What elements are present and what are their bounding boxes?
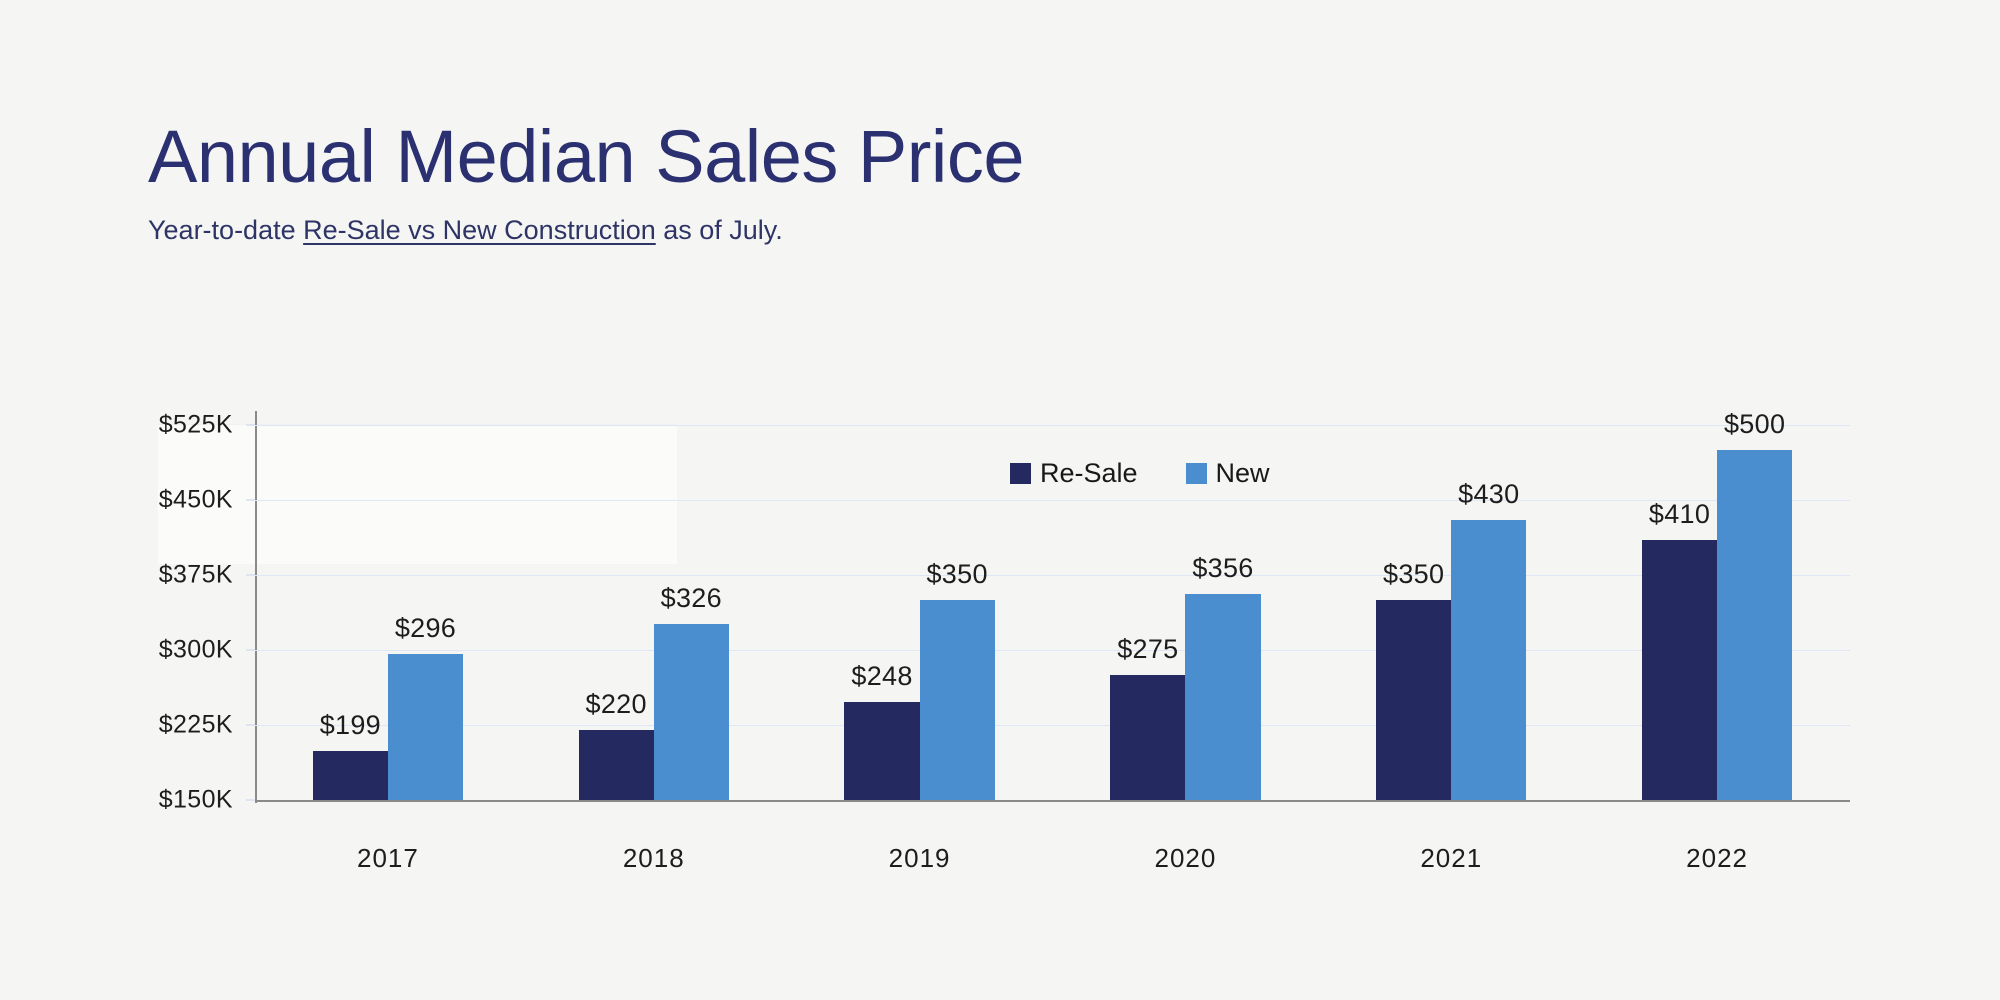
bar-group: $410$500: [1642, 425, 1792, 800]
legend-swatch-resale: [1010, 463, 1031, 484]
subtitle-emphasis: Re-Sale vs New Construction: [303, 215, 656, 245]
bar-value-label: $248: [851, 661, 912, 692]
legend-item-resale[interactable]: Re-Sale: [1010, 460, 1138, 487]
subtitle-suffix: as of July.: [656, 215, 783, 245]
bar-value-label: $275: [1117, 634, 1178, 665]
x-axis-label-2022: 2022: [1686, 843, 1748, 874]
y-tick-mark: [246, 425, 255, 426]
y-axis-label: $375K: [159, 561, 233, 590]
bar-new-2020[interactable]: [1185, 594, 1260, 800]
bar-group: $220$326: [579, 425, 729, 800]
bar-value-label: $356: [1192, 553, 1253, 584]
legend-label-resale: Re-Sale: [1040, 460, 1138, 487]
legend-item-new[interactable]: New: [1186, 460, 1270, 487]
bar-value-label: $410: [1649, 499, 1710, 530]
y-axis-label: $450K: [159, 486, 233, 515]
y-axis-label: $150K: [159, 786, 233, 815]
legend-label-new: New: [1216, 460, 1270, 487]
bar-value-label: $199: [320, 710, 381, 741]
y-tick-mark: [246, 500, 255, 501]
y-axis-label: $525K: [159, 411, 233, 440]
bar-value-label: $326: [661, 583, 722, 614]
bar-resale-2019[interactable]: [844, 702, 919, 800]
bar-value-label: $430: [1458, 479, 1519, 510]
y-tick-mark: [246, 650, 255, 651]
y-tick-mark: [246, 800, 255, 801]
x-axis-label-2018: 2018: [623, 843, 685, 874]
plot-area: $525K$450K$375K$300K$225K$150K $199$296$…: [255, 425, 1850, 800]
x-axis-line: [255, 800, 1850, 802]
bar-chart: $525K$450K$375K$300K$225K$150K $199$296$…: [0, 400, 2000, 880]
legend-swatch-new: [1186, 463, 1207, 484]
bar-resale-2022[interactable]: [1642, 540, 1717, 800]
bar-resale-2021[interactable]: [1376, 600, 1451, 800]
y-tick-mark: [246, 575, 255, 576]
bar-group: $199$296: [313, 425, 463, 800]
y-axis-label: $225K: [159, 711, 233, 740]
x-axis-label-2019: 2019: [889, 843, 951, 874]
x-axis-label-2021: 2021: [1420, 843, 1482, 874]
x-axis-label-2017: 2017: [357, 843, 419, 874]
bar-new-2021[interactable]: [1451, 520, 1526, 800]
chart-page: Annual Median Sales Price Year-to-date R…: [0, 0, 2000, 1000]
y-axis-label: $300K: [159, 636, 233, 665]
bar-value-label: $296: [395, 613, 456, 644]
subtitle-prefix: Year-to-date: [148, 215, 303, 245]
bar-resale-2020[interactable]: [1110, 675, 1185, 800]
bar-group: $350$430: [1376, 425, 1526, 800]
page-title: Annual Median Sales Price: [148, 118, 1024, 196]
bar-new-2019[interactable]: [920, 600, 995, 800]
chart-subtitle: Year-to-date Re-Sale vs New Construction…: [148, 214, 1024, 246]
bar-group: $248$350: [844, 425, 994, 800]
bar-value-label: $220: [586, 689, 647, 720]
chart-legend: Re-Sale New: [1010, 460, 1270, 487]
y-tick-mark: [246, 725, 255, 726]
bar-value-label: $350: [926, 559, 987, 590]
bar-value-label: $500: [1724, 409, 1785, 440]
x-axis-label-2020: 2020: [1154, 843, 1216, 874]
bar-resale-2018[interactable]: [579, 730, 654, 800]
bar-resale-2017[interactable]: [313, 751, 388, 800]
bar-new-2017[interactable]: [388, 654, 463, 800]
bar-new-2018[interactable]: [654, 624, 729, 800]
bar-new-2022[interactable]: [1717, 450, 1792, 800]
bar-value-label: $350: [1383, 559, 1444, 590]
chart-header: Annual Median Sales Price Year-to-date R…: [148, 118, 1024, 246]
